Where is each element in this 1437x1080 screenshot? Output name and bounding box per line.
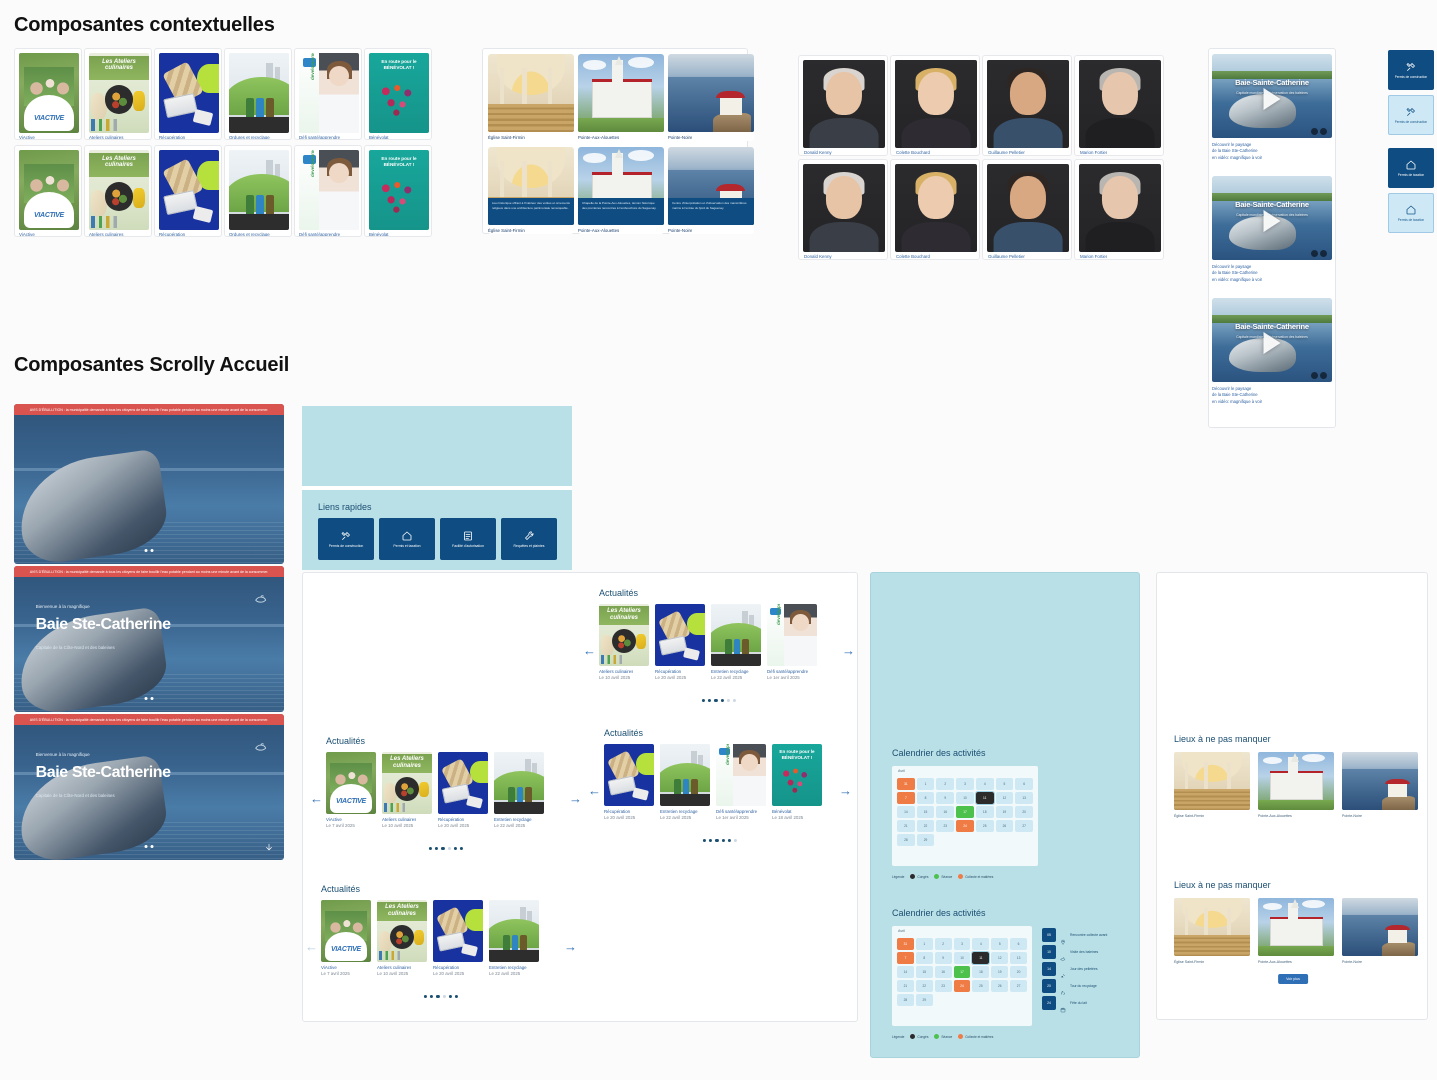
calendar-day-cell[interactable]: 26 (996, 820, 1014, 832)
calendar-day-cell[interactable]: 24 (954, 980, 971, 992)
carousel-prev-arrow[interactable]: ← (310, 792, 323, 805)
calendar-day-cell (1010, 994, 1027, 1006)
place-card-title: Pointe-Noire (668, 228, 692, 234)
carousel-dot[interactable] (435, 847, 438, 850)
place-card-thumb: Chapelle de la Pointe-Aux-Alouettes, tém… (578, 147, 664, 225)
calendar-day-cell[interactable]: 8 (916, 952, 933, 964)
artwork-pointe (668, 54, 754, 132)
calendar-day-cell[interactable]: 29 (917, 834, 935, 846)
carousel-item-date: Le 7 avril 2025 (321, 971, 350, 977)
calendar-day-cell[interactable]: 14 (897, 806, 915, 818)
artwork-portrait (803, 60, 885, 148)
carousel-dot[interactable] (715, 839, 718, 842)
person-card-photo (1079, 164, 1161, 252)
calendar-day-cell[interactable]: 13 (1015, 792, 1033, 804)
calendar-day-cell[interactable]: 14 (897, 966, 914, 978)
whale-icon (254, 592, 268, 606)
calendar-day-cell[interactable]: 31 (897, 778, 915, 790)
artwork-culinaire: Les Ateliers culinaires (599, 604, 649, 666)
calendar-day-cell[interactable]: 17 (954, 966, 971, 978)
scrolly-hero-1[interactable]: AVIS D'ÉBULLITION : la municipalité dema… (14, 404, 284, 564)
person-card[interactable]: Donald KennyMaire (798, 55, 888, 156)
house-icon (401, 530, 413, 542)
carousel-dot[interactable] (424, 995, 427, 998)
calendar-day-cell[interactable]: 4 (976, 778, 994, 790)
carousel-item[interactable]: Entretien recyclageLe 22 avril 2025 (489, 900, 539, 962)
carousel-dot[interactable] (708, 699, 711, 702)
hero-dot[interactable] (151, 845, 154, 848)
calendar-day-cell[interactable]: 12 (991, 952, 1008, 964)
calendar-day-cell (956, 834, 974, 846)
lieux-item-title: Église Saint-Firmin (1174, 960, 1204, 964)
calendar-day-cell[interactable]: 19 (996, 806, 1014, 818)
carousel-item-date: Le 20 avril 2025 (655, 675, 686, 681)
person-name: Donald Kenny (804, 150, 832, 156)
quick-links-body: Liens rapides Permis de constructionPerm… (302, 490, 572, 570)
calendar-event-label: Rencontre collecte avant (1070, 933, 1107, 937)
artwork-viactive: VIACTIVE (321, 900, 371, 962)
voir-plus-button[interactable]: Voir plus (1278, 974, 1308, 984)
lieux-block-2: Lieux à ne pas manquerÉglise Saint-Firmi… (1168, 878, 1418, 1010)
calendar-day-cell[interactable]: 10 (954, 952, 971, 964)
calendar-day-cell[interactable]: 10 (956, 792, 974, 804)
news-card[interactable]: VIACTIVEViActiveLe 7 avril 2025 (14, 145, 82, 237)
lieux-item-thumb[interactable] (1174, 898, 1250, 956)
place-card[interactable]: Lieu historique offrant à l'intérieur de… (488, 147, 574, 234)
calendar-title: Calendrier des activités (892, 748, 986, 758)
carousel-next-arrow[interactable]: → (564, 940, 577, 953)
calendar-event-list: 05Rencontre collecte avant10Visite des b… (1042, 928, 1134, 1010)
news-card-thumb: En route pour le BÉNÉVOLAT ! (369, 53, 429, 133)
carousel-pagination-dots[interactable] (429, 847, 463, 850)
tools-icon (340, 530, 352, 542)
carousel-next-arrow[interactable]: → (839, 784, 852, 797)
calendar-day-cell[interactable]: 8 (917, 792, 935, 804)
quick-link-label: Requêtes et plaintes (512, 545, 547, 549)
carousel-item-date: Le 22 avril 2025 (494, 823, 525, 829)
carousel-item-thumb: En route pour le BÉNÉVOLAT ! (772, 744, 822, 806)
calendar-day-cell[interactable]: 3 (956, 778, 974, 790)
news-card-title: Ordures et recyclage (229, 232, 289, 237)
lieux-item-title: Église Saint-Firmin (1174, 814, 1204, 818)
news-card[interactable]: developpement durableDéfi santé/apprendr… (294, 145, 362, 237)
place-card[interactable]: Chapelle de la Pointe-Aux-Alouettes, tém… (578, 147, 664, 234)
carousel-item-date: Le 20 avril 2025 (433, 971, 464, 977)
news-card[interactable]: RécupérationLe 20 avril 2025 (154, 145, 222, 237)
calendar-day-cell[interactable]: 20 (1010, 966, 1027, 978)
carousel-prev-arrow[interactable]: ← (583, 644, 596, 657)
hero-dot[interactable] (151, 697, 154, 700)
person-card-photo (895, 60, 977, 148)
artwork-pointe (1342, 752, 1418, 810)
artwork-video: Baie-Sainte-CatherineCapitale mondiale d… (1212, 298, 1332, 382)
mute-icon[interactable] (1311, 372, 1318, 379)
calendar-day-cell[interactable]: 22 (917, 820, 935, 832)
calendar-legend-text: Séance (941, 1035, 952, 1039)
carousel-dot[interactable] (728, 839, 731, 842)
carousel-dot[interactable] (430, 995, 433, 998)
calendar-event-row[interactable]: 24Fête du lait (1042, 996, 1134, 1010)
play-button-icon[interactable] (1264, 210, 1281, 232)
artwork-whale (14, 714, 284, 860)
video-card-thumb[interactable]: Baie-Sainte-CatherineCapitale mondiale d… (1212, 298, 1332, 382)
quick-link-4[interactable]: Requêtes et plaintes (501, 518, 557, 560)
carousel-item[interactable]: Les Ateliers culinairesAteliers culinair… (382, 752, 432, 814)
calendar-day-cell[interactable]: 6 (1010, 938, 1027, 950)
artwork-culinaire: Les Ateliers culinaires (89, 53, 149, 133)
carousel-next-arrow[interactable]: → (842, 644, 855, 657)
calendar-day-cell[interactable]: 7 (897, 792, 915, 804)
carousel-item[interactable]: RécupérationLe 20 avril 2025 (655, 604, 705, 666)
carousel-item-date: Le 1er avril 2025 (767, 675, 800, 681)
carousel-item-date: Le 22 avril 2025 (489, 971, 520, 977)
person-card-photo (895, 164, 977, 252)
calendar-day-cell[interactable]: 4 (972, 938, 989, 950)
carousel-item[interactable]: RécupérationLe 20 avril 2025 (438, 752, 488, 814)
calendar-legend-label: Légende (892, 875, 904, 879)
sticky-button-label: Permis de construction (1395, 76, 1427, 80)
calendar-event-row[interactable]: 14Jour des pelletées (1042, 962, 1134, 976)
house-icon (1405, 204, 1417, 216)
hero-pagination-dots[interactable] (145, 697, 154, 700)
carousel-dot[interactable] (722, 839, 725, 842)
carousel-item-thumb: Les Ateliers culinaires (382, 752, 432, 814)
carousel-item[interactable]: RécupérationLe 20 avril 2025 (433, 900, 483, 962)
quick-link-2[interactable]: Permis et taxation (379, 518, 435, 560)
carousel-item[interactable]: Entretien recyclageLe 22 avril 2025 (494, 752, 544, 814)
lieux-block-1: Lieux à ne pas manquerÉglise Saint-Firmi… (1168, 732, 1418, 848)
quick-link-1[interactable]: Permis de construction (318, 518, 374, 560)
whale-icon (254, 740, 268, 754)
calendar-event-icon (1060, 983, 1066, 989)
carousel-pagination-dots[interactable] (702, 699, 736, 702)
calendar-grid: 3112345678910111213141516171819202122232… (897, 938, 1027, 1006)
tools-icon (1405, 61, 1417, 73)
carousel-dot[interactable] (460, 847, 463, 850)
carousel-dot[interactable] (703, 839, 706, 842)
hero-pagination-dots[interactable] (145, 549, 154, 552)
video-card-thumb[interactable]: Baie-Sainte-CatherineCapitale mondiale d… (1212, 54, 1332, 138)
person-card[interactable]: Colette BouchardConseillère - Siège n° 1 (890, 159, 980, 260)
calendar-legend-swatch (958, 874, 963, 879)
person-name: Marion Fortier (1080, 150, 1107, 156)
calendar-day-cell[interactable]: 17 (956, 806, 974, 818)
calendar-day-cell[interactable]: 28 (897, 834, 915, 846)
lieux-title: Lieux à ne pas manquer (1174, 880, 1271, 890)
quick-link-3[interactable]: Facilité d'autorisation (440, 518, 496, 560)
scrolly-hero-2[interactable]: AVIS D'ÉBULLITION : la municipalité dema… (14, 566, 284, 712)
artwork-pharma: developpement durable (299, 53, 359, 133)
carousel-item-thumb: Les Ateliers culinaires (599, 604, 649, 666)
person-card[interactable]: Marion FortierConseillère - Siège n° 3 (1074, 55, 1164, 156)
carousel-dot[interactable] (443, 995, 446, 998)
carousel-prev-arrow[interactable]: ← (588, 784, 601, 797)
carousel-title: Actualités (604, 728, 643, 738)
calendar-day-cell[interactable]: 23 (935, 980, 952, 992)
hero-kicker: Bienvenue à la magnifique (36, 752, 90, 757)
lieux-item-thumb[interactable] (1342, 752, 1418, 810)
artwork-recup (655, 604, 705, 666)
calendar-day-cell[interactable]: 7 (897, 952, 914, 964)
calendar-legend-label: Légende (892, 1035, 904, 1039)
news-card[interactable]: En route pour le BÉNÉVOLAT !BénévolatLe … (364, 48, 432, 140)
calendar-day-cell[interactable]: 5 (996, 778, 1014, 790)
place-card-title: Pointe-Noire (668, 135, 692, 141)
artwork-whale (14, 566, 284, 712)
carousel-2: Actualités←→VIACTIVEViActiveLe 7 avril 2… (312, 734, 580, 854)
carousel-dot[interactable] (455, 995, 458, 998)
video-controls[interactable] (1311, 250, 1327, 257)
calendar-day-cell[interactable]: 23 (936, 820, 954, 832)
scroll-down-arrow[interactable] (264, 842, 274, 852)
calendar-day-cell[interactable]: 26 (991, 980, 1008, 992)
sticky-button-label: Permis de taxation (1398, 174, 1424, 178)
tools-icon (1405, 106, 1417, 118)
lieux-item-thumb[interactable] (1342, 898, 1418, 956)
person-card[interactable]: Marion FortierConseillère - Siège n° 3 (1074, 159, 1164, 260)
calendar-legend-text: Collecte et matières (965, 875, 993, 879)
calendar-day-cell[interactable]: 15 (916, 966, 933, 978)
news-card-thumb (229, 150, 289, 230)
news-card-thumb: developpement durable (299, 150, 359, 230)
news-card[interactable]: RécupérationLe 20 avril 2025 (154, 48, 222, 140)
video-controls[interactable] (1311, 128, 1327, 135)
calendar-day-cell[interactable]: 1 (916, 938, 933, 950)
mute-icon[interactable] (1311, 128, 1318, 135)
carousel-item[interactable]: VIACTIVEViActiveLe 7 avril 2025 (326, 752, 376, 814)
calendar-day-cell[interactable]: 27 (1015, 820, 1033, 832)
calendar-grid-box: Avril31123456789101112131415161718192021… (892, 766, 1038, 866)
calendar-day-cell[interactable]: 21 (897, 820, 915, 832)
calendar-day-cell[interactable]: 16 (935, 966, 952, 978)
calendar-day-cell[interactable]: 25 (972, 980, 989, 992)
alert-banner[interactable]: AVIS D'ÉBULLITION : la municipalité dema… (14, 404, 284, 415)
sticky-button-4[interactable]: Permis de taxation (1388, 193, 1434, 233)
place-card[interactable]: Église Saint-Firmin (488, 54, 574, 141)
fullscreen-icon[interactable] (1320, 128, 1327, 135)
calendar-day-cell[interactable]: 12 (996, 792, 1014, 804)
alert-banner[interactable]: AVIS D'ÉBULLITION : la municipalité dema… (14, 714, 284, 725)
news-card[interactable]: Ordures et recyclageLe 22 avril 2025 (224, 48, 292, 140)
fullscreen-icon[interactable] (1320, 372, 1327, 379)
calendar-event-label: Tour du recyclage (1070, 984, 1097, 988)
carousel-item[interactable]: Entretien recyclageLe 22 avril 2025 (660, 744, 710, 806)
hero-title: Baie Ste-Catherine (36, 764, 171, 782)
carousel-dot[interactable] (441, 847, 444, 850)
alert-banner[interactable]: AVIS D'ÉBULLITION : la municipalité dema… (14, 566, 284, 577)
calendar-day-cell[interactable]: 18 (976, 806, 994, 818)
hero-dot[interactable] (145, 549, 148, 552)
carousel-item[interactable]: developpement durableDéfi santé/apprendr… (716, 744, 766, 806)
news-card-thumb (159, 150, 219, 230)
artwork-pharma: developpement durable (299, 150, 359, 230)
calendar-day-cell[interactable]: 3 (954, 938, 971, 950)
place-card[interactable]: Pointe-Aux-Alouettes (578, 54, 664, 141)
calendar-day-cell[interactable]: 11 (976, 792, 994, 804)
person-card[interactable]: Guillaume PelletierConseiller - Siège n°… (982, 159, 1072, 260)
calendar-grid: 3112345678910111213141516171819202122232… (897, 778, 1033, 846)
news-card-thumb (229, 53, 289, 133)
calendar-day-cell[interactable]: 29 (916, 994, 933, 1006)
calendar-day-cell[interactable]: 2 (936, 778, 954, 790)
calendar-day-cell[interactable]: 6 (1015, 778, 1033, 790)
calendar-day-cell[interactable]: 25 (976, 820, 994, 832)
artwork-portrait (987, 60, 1069, 148)
calendar-day-cell[interactable]: 28 (897, 994, 914, 1006)
calendar-day-cell[interactable]: 9 (936, 792, 954, 804)
carousel-dot[interactable] (727, 699, 730, 702)
sticky-button-2[interactable]: Permis de construction (1388, 95, 1434, 135)
carousel-dot[interactable] (429, 847, 432, 850)
carousel-prev-arrow[interactable]: ← (305, 940, 318, 953)
person-card[interactable]: Guillaume PelletierConseiller - Siège n°… (982, 55, 1072, 156)
news-card-thumb: En route pour le BÉNÉVOLAT ! (369, 150, 429, 230)
person-card[interactable]: Colette BouchardConseillère - Siège n° 1 (890, 55, 980, 156)
lieux-item-thumb[interactable] (1258, 898, 1334, 956)
carousel-next-arrow[interactable]: → (569, 792, 582, 805)
artwork-church-ext (1258, 752, 1334, 810)
news-card[interactable]: Les Ateliers culinairesAteliers culinair… (84, 145, 152, 237)
calendar-event-row[interactable]: 05Rencontre collecte avant (1042, 928, 1134, 942)
calendar-day-cell[interactable]: 20 (1015, 806, 1033, 818)
play-button-icon[interactable] (1264, 332, 1281, 354)
calendar-day-cell[interactable]: 16 (936, 806, 954, 818)
calendar-event-row[interactable]: 10Visite des baleines (1042, 945, 1134, 959)
news-card[interactable]: developpement durableDéfi santé/apprendr… (294, 48, 362, 140)
calendar-legend-swatch (910, 874, 915, 879)
calendar-day-cell[interactable]: 27 (1010, 980, 1027, 992)
hero-dot[interactable] (145, 845, 148, 848)
video-card[interactable]: Baie-Sainte-CatherineCapitale mondiale d… (1212, 298, 1332, 414)
carousel-pagination-dots[interactable] (703, 839, 737, 842)
carousel-dot[interactable] (449, 995, 452, 998)
place-card[interactable]: Centre d'interprétation et d'observation… (668, 147, 754, 234)
hero-dot[interactable] (145, 697, 148, 700)
carousel-item-date: Le 1er avril 2025 (716, 815, 749, 821)
hero-pagination-dots[interactable] (145, 845, 154, 848)
fullscreen-icon[interactable] (1320, 250, 1327, 257)
calendar-event-day: 20 (1042, 979, 1056, 993)
calendar-day-cell[interactable]: 9 (935, 952, 952, 964)
lieux-item-title: Pointe-Noire (1342, 814, 1362, 818)
lieux-item-thumb[interactable] (1258, 752, 1334, 810)
calendar-legend-item: Séance (934, 1034, 952, 1039)
artwork-portrait (1079, 164, 1161, 252)
video-card[interactable]: Baie-Sainte-CatherineCapitale mondiale d… (1212, 54, 1332, 170)
calendar-day-cell[interactable]: 11 (972, 952, 989, 964)
calendar-day-cell[interactable]: 13 (1010, 952, 1027, 964)
video-controls[interactable] (1311, 372, 1327, 379)
carousel-dot[interactable] (709, 839, 712, 842)
artwork-church-int (488, 54, 574, 132)
sticky-button-3[interactable]: Permis de taxation (1388, 148, 1434, 188)
carousel-item-thumb (489, 900, 539, 962)
quick-links-hero-placeholder (302, 406, 572, 486)
calendar-legend-swatch (934, 874, 939, 879)
calendar-day-cell[interactable]: 31 (897, 938, 914, 950)
calendar-day-cell[interactable]: 19 (991, 966, 1008, 978)
calendar-day-cell (1015, 834, 1033, 846)
video-card-thumb[interactable]: Baie-Sainte-CatherineCapitale mondiale d… (1212, 176, 1332, 260)
mute-icon[interactable] (1311, 250, 1318, 257)
news-card-thumb: VIACTIVE (19, 150, 79, 230)
carousel-dot[interactable] (702, 699, 705, 702)
carousel-dot[interactable] (454, 847, 457, 850)
artwork-portrait (895, 60, 977, 148)
carousel-item[interactable]: VIACTIVEViActiveLe 7 avril 2025 (321, 900, 371, 962)
carousel-dot[interactable] (734, 839, 737, 842)
carousel-item[interactable]: Entretien recyclageLe 22 avril 2025 (711, 604, 761, 666)
calendar-legend-item: Séance (934, 874, 952, 879)
news-card[interactable]: Les Ateliers culinairesAteliers culinair… (84, 48, 152, 140)
play-button-icon[interactable] (1264, 88, 1281, 110)
carousel-item[interactable]: Les Ateliers culinairesAteliers culinair… (599, 604, 649, 666)
carousel-item[interactable]: RécupérationLe 20 avril 2025 (604, 744, 654, 806)
news-card[interactable]: En route pour le BÉNÉVOLAT !BénévolatLe … (364, 145, 432, 237)
carousel-item-date: Le 10 avril 2025 (377, 971, 408, 977)
carousel-item[interactable]: En route pour le BÉNÉVOLAT !BénévolatLe … (772, 744, 822, 806)
calendar-day-cell[interactable]: 22 (916, 980, 933, 992)
calendar-day-cell[interactable]: 18 (972, 966, 989, 978)
calendar-day-cell[interactable]: 21 (897, 980, 914, 992)
carousel-item-thumb: developpement durable (716, 744, 766, 806)
lieux-item-thumb[interactable] (1174, 752, 1250, 810)
news-card[interactable]: VIACTIVEViActiveLe 7 avril 2025 (14, 48, 82, 140)
calendar-event-row[interactable]: 20Tour du recyclage (1042, 979, 1134, 993)
carousel-dot[interactable] (448, 847, 451, 850)
artwork-ordures (229, 53, 289, 133)
calendar-day-cell[interactable]: 1 (917, 778, 935, 790)
news-card-title: Ateliers culinaires (89, 135, 149, 140)
calendar-legend-swatch (910, 1034, 915, 1039)
news-card-title: Bénévolat (369, 232, 429, 237)
carousel-dot[interactable] (721, 699, 724, 702)
carousel-item-thumb: Les Ateliers culinaires (377, 900, 427, 962)
hero-kicker: Bienvenue à la magnifique (36, 604, 90, 609)
calendar-day-cell[interactable]: 15 (917, 806, 935, 818)
place-card-title: Église Saint-Firmin (488, 228, 525, 234)
artwork-portrait (987, 164, 1069, 252)
place-card[interactable]: Pointe-Noire (668, 54, 754, 141)
carousel-dot[interactable] (733, 699, 736, 702)
sticky-button-1[interactable]: Permis de construction (1388, 50, 1434, 90)
person-card-photo (987, 164, 1069, 252)
scrolly-hero-3[interactable]: AVIS D'ÉBULLITION : la municipalité dema… (14, 714, 284, 860)
calendar-day-cell (936, 834, 954, 846)
artwork-culinaire: Les Ateliers culinaires (377, 900, 427, 962)
carousel-item-date: Le 20 avril 2025 (604, 815, 635, 821)
calendar-day-cell[interactable]: 2 (935, 938, 952, 950)
video-card[interactable]: Baie-Sainte-CatherineCapitale mondiale d… (1212, 176, 1332, 292)
calendar-day-cell (976, 834, 994, 846)
person-name: Guillaume Pelletier (988, 254, 1025, 260)
carousel-pagination-dots[interactable] (424, 995, 458, 998)
artwork-recup (438, 752, 488, 814)
carousel-item[interactable]: developpement durableDéfi santé/apprendr… (767, 604, 817, 666)
person-card[interactable]: Donald KennyMaire (798, 159, 888, 260)
hero-dot[interactable] (151, 549, 154, 552)
calendar-1: Calendrier des activitésAvril31123456789… (884, 746, 1134, 894)
news-card[interactable]: Ordures et recyclageLe 22 avril 2025 (224, 145, 292, 237)
artwork-viactive: VIACTIVE (326, 752, 376, 814)
calendar-day-cell[interactable]: 24 (956, 820, 974, 832)
carousel-dot[interactable] (436, 995, 439, 998)
document-icon (462, 530, 474, 542)
calendar-day-cell[interactable]: 5 (991, 938, 1008, 950)
quick-link-label: Permis de construction (327, 545, 366, 549)
carousel-dot[interactable] (714, 699, 717, 702)
carousel-item[interactable]: Les Ateliers culinairesAteliers culinair… (377, 900, 427, 962)
